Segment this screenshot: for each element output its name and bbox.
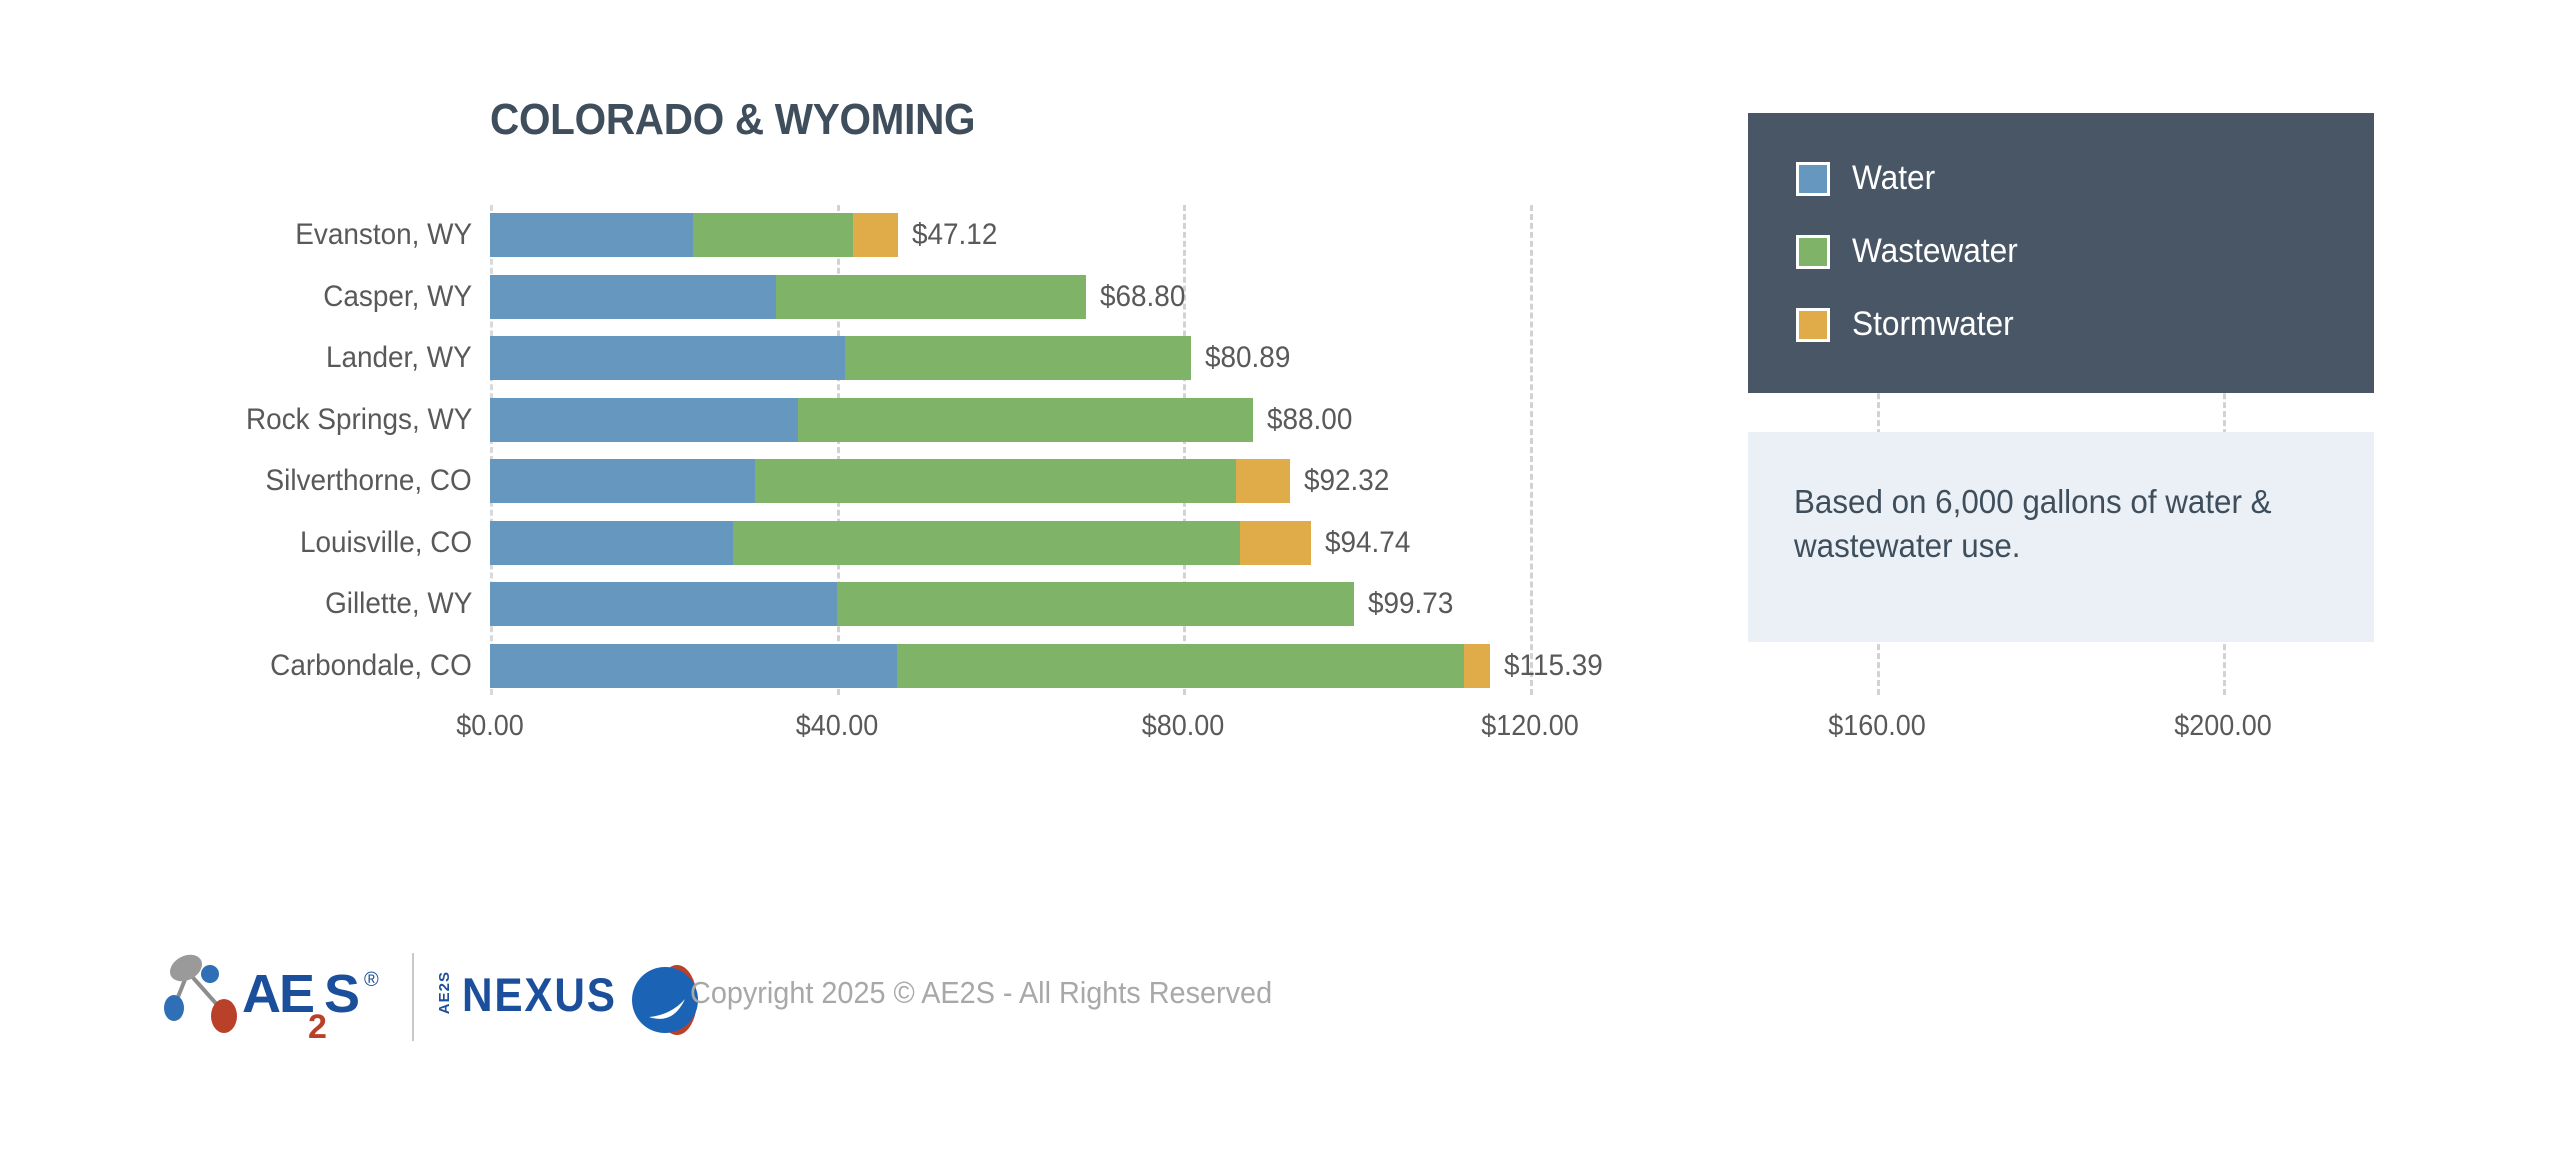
x-tick-label: $120.00 [1481, 710, 1578, 743]
bar-segment-stormwater[interactable] [853, 213, 898, 257]
bar-value-label: $99.73 [1368, 582, 1453, 626]
bar-segment-wastewater[interactable] [755, 459, 1236, 503]
bar-value-label: $68.80 [1100, 275, 1185, 319]
legend-swatch-wastewater-icon [1796, 235, 1830, 269]
category-label: Carbondale, CO [270, 644, 472, 688]
x-axis: $0.00$40.00$80.00$120.00$160.00$200.00 [490, 710, 2230, 770]
aes-logo[interactable]: AE S 2 ® [158, 950, 393, 1045]
bar-segment-wastewater[interactable] [693, 213, 853, 257]
bar-segment-water[interactable] [490, 582, 837, 626]
legend-swatch-stormwater-icon [1796, 308, 1830, 342]
svg-text:AE: AE [242, 964, 313, 1024]
chart-panel: COLORADO & WYOMING Evanston, WY$47.12Cas… [0, 0, 1740, 800]
x-tick-label: $80.00 [1142, 710, 1224, 743]
bar-segment-water[interactable] [490, 336, 845, 380]
x-tick-label: $160.00 [1828, 710, 1925, 743]
bar-segment-water[interactable] [490, 213, 693, 257]
category-label: Rock Springs, WY [246, 398, 472, 442]
svg-text:2: 2 [308, 1008, 327, 1045]
bar-segment-water[interactable] [490, 459, 755, 503]
bar-segment-stormwater[interactable] [1236, 459, 1290, 503]
footer: AE S 2 ® AE2S NEXUS Copyright 2025 © AE2… [0, 935, 2560, 1075]
bar-value-label: $88.00 [1267, 398, 1352, 442]
note-box: Based on 6,000 gallons of water & wastew… [1748, 432, 2374, 642]
stacked-bar[interactable] [490, 521, 1311, 565]
category-label: Evanston, WY [295, 213, 472, 257]
note-text: Based on 6,000 gallons of water & wastew… [1794, 480, 2313, 567]
logo-divider [412, 953, 414, 1041]
legend-item-stormwater[interactable]: Stormwater [1796, 305, 2026, 344]
bar-segment-wastewater[interactable] [837, 582, 1355, 626]
copyright-text: Copyright 2025 © AE2S - All Rights Reser… [690, 975, 1272, 1011]
legend-label-wastewater: Wastewater [1852, 232, 2018, 271]
bar-row[interactable]: Carbondale, CO$115.39 [490, 636, 2223, 698]
nexus-logo[interactable]: AE2S NEXUS [436, 955, 666, 1045]
bar-segment-wastewater[interactable] [897, 644, 1464, 688]
stacked-bar[interactable] [490, 582, 1354, 626]
stacked-bar[interactable] [490, 336, 1191, 380]
category-label: Casper, WY [323, 275, 472, 319]
legend-label-stormwater: Stormwater [1852, 305, 2014, 344]
chart-title: COLORADO & WYOMING [490, 95, 975, 145]
category-label: Louisville, CO [300, 521, 472, 565]
bar-segment-water[interactable] [490, 644, 897, 688]
nexus-logo-mark: AE2S [436, 971, 453, 1014]
bar-value-label: $47.12 [912, 213, 997, 257]
bar-value-label: $94.74 [1325, 521, 1410, 565]
bar-segment-water[interactable] [490, 275, 776, 319]
bar-segment-wastewater[interactable] [798, 398, 1253, 442]
category-label: Lander, WY [326, 336, 472, 380]
bar-segment-wastewater[interactable] [776, 275, 1086, 319]
stacked-bar[interactable] [490, 398, 1253, 442]
bar-value-label: $80.89 [1205, 336, 1290, 380]
x-tick-label: $0.00 [456, 710, 523, 743]
bar-segment-stormwater[interactable] [1240, 521, 1311, 565]
stacked-bar[interactable] [490, 459, 1290, 503]
aes-logo-icon: AE S 2 ® [158, 950, 393, 1045]
category-label: Gillette, WY [325, 582, 472, 626]
nexus-logo-word: NEXUS [462, 967, 617, 1022]
stacked-bar[interactable] [490, 275, 1086, 319]
legend-item-water[interactable]: Water [1796, 159, 1941, 198]
slide-canvas: COLORADO & WYOMING Evanston, WY$47.12Cas… [0, 0, 2560, 1166]
bar-value-label: $92.32 [1304, 459, 1389, 503]
bar-segment-water[interactable] [490, 398, 798, 442]
category-label: Silverthorne, CO [266, 459, 472, 503]
x-tick-label: $200.00 [2175, 710, 2272, 743]
bar-segment-stormwater[interactable] [1464, 644, 1490, 688]
x-tick-label: $40.00 [795, 710, 877, 743]
bar-segment-water[interactable] [490, 521, 733, 565]
bar-segment-wastewater[interactable] [733, 521, 1240, 565]
stacked-bar[interactable] [490, 644, 1490, 688]
legend: Water Wastewater Stormwater [1748, 113, 2374, 393]
legend-label-water: Water [1852, 159, 1935, 198]
stacked-bar[interactable] [490, 213, 898, 257]
bar-segment-wastewater[interactable] [845, 336, 1191, 380]
legend-item-wastewater[interactable]: Wastewater [1796, 232, 2030, 271]
legend-swatch-water-icon [1796, 162, 1830, 196]
svg-text:S: S [324, 964, 360, 1024]
svg-text:®: ® [364, 969, 379, 991]
bar-value-label: $115.39 [1504, 644, 1603, 688]
